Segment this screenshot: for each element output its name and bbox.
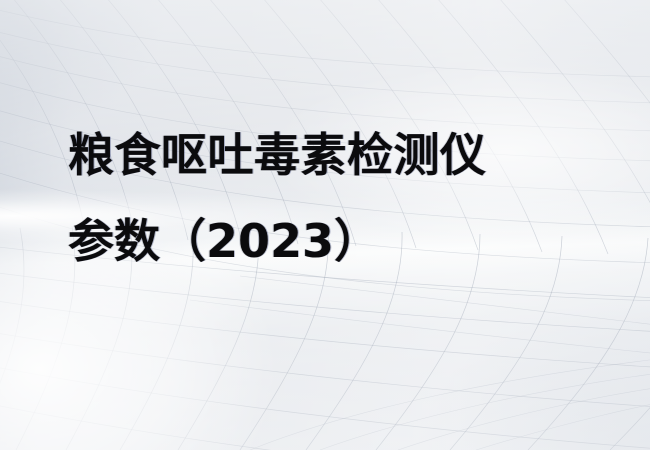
title-block: 粮食呕吐毒素检测仪 参数（2023）: [68, 112, 608, 284]
title-line-2: 参数（2023）: [68, 198, 608, 284]
product-title-banner: 粮食呕吐毒素检测仪 参数（2023）: [0, 0, 650, 450]
title-line-1: 粮食呕吐毒素检测仪: [68, 112, 608, 198]
